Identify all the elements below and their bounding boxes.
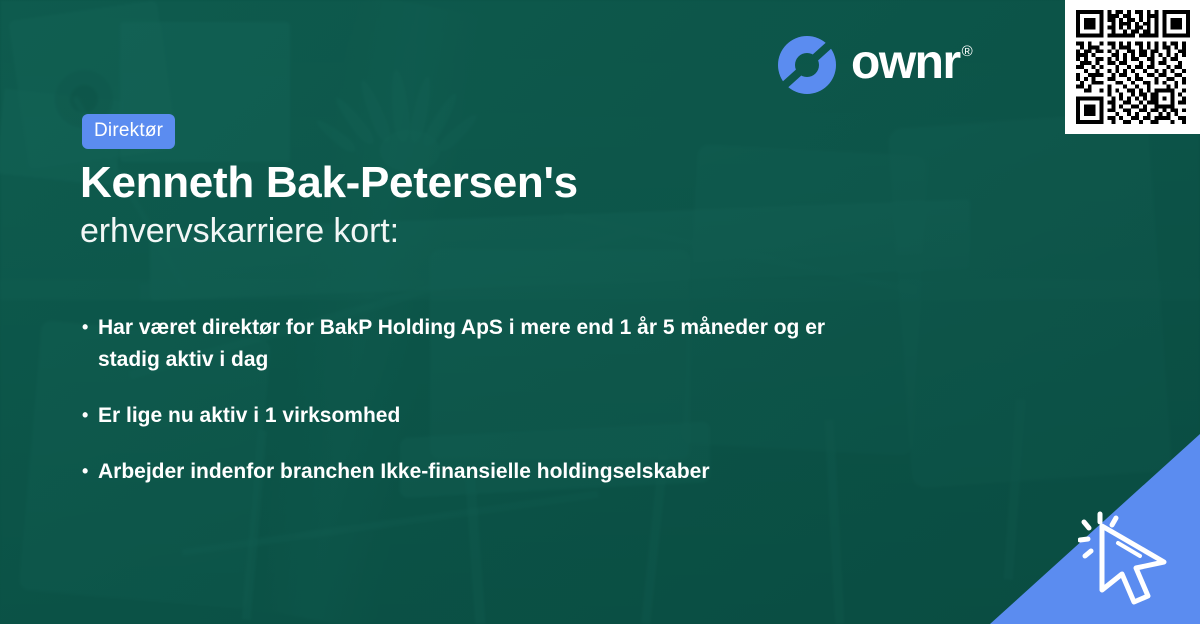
- list-item-text: Har været direktør for BakP Holding ApS …: [98, 312, 858, 376]
- bullet-icon: •: [82, 312, 98, 342]
- page-subtitle: erhvervskarriere kort:: [80, 212, 399, 251]
- registered-trademark-icon: ®: [962, 43, 972, 60]
- bullet-icon: •: [82, 400, 98, 430]
- qr-code-icon: [1076, 10, 1190, 124]
- list-item-text: Arbejder indenfor branchen Ikke-finansie…: [98, 456, 710, 488]
- qr-code-panel[interactable]: [1065, 0, 1200, 134]
- ownr-logo[interactable]: ownr®: [777, 33, 1027, 97]
- list-item: • Arbejder indenfor branchen Ikke-finans…: [82, 456, 982, 488]
- ownr-wordmark-text: ownr: [851, 36, 960, 89]
- list-item: • Har været direktør for BakP Holding Ap…: [82, 312, 982, 376]
- ownr-mark-icon: [777, 35, 837, 95]
- page-title: Kenneth Bak-Petersen's: [80, 158, 578, 208]
- list-item-text: Er lige nu aktiv i 1 virksomhed: [98, 400, 400, 432]
- career-facts-list: • Har været direktør for BakP Holding Ap…: [82, 312, 982, 512]
- career-card: Direktør Kenneth Bak-Petersen's erhvervs…: [0, 0, 1200, 624]
- list-item: • Er lige nu aktiv i 1 virksomhed: [82, 400, 982, 432]
- click-cursor-icon: [1078, 510, 1184, 606]
- bullet-icon: •: [82, 456, 98, 486]
- ownr-wordmark: ownr®: [851, 39, 969, 87]
- role-badge: Direktør: [82, 114, 175, 149]
